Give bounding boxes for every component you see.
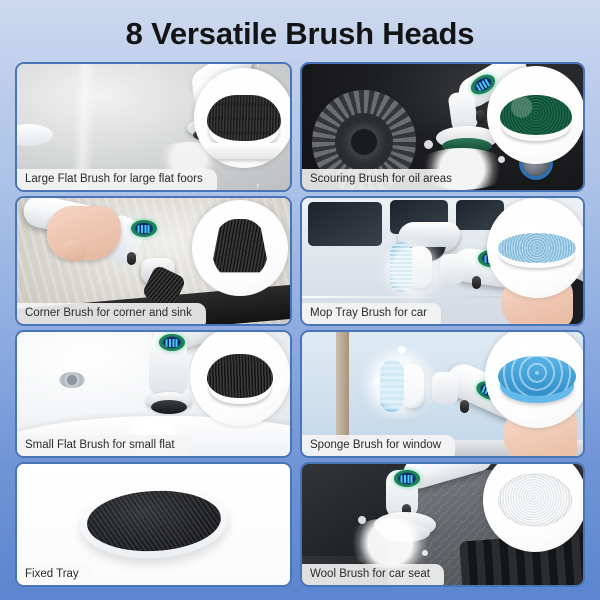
panel-label: Sponge Brush for window	[302, 435, 455, 456]
panel-label: Corner Brush for corner and sink	[17, 303, 206, 324]
page-title: 8 Versatile Brush Heads	[0, 16, 600, 52]
panel-fixed-tray[interactable]: Fixed Tray	[15, 462, 292, 587]
panel-label: Wool Brush for car seat	[302, 564, 444, 585]
led-display-icon	[394, 470, 420, 487]
led-display-icon	[159, 334, 185, 351]
panel-label: Scouring Brush for oil areas	[302, 169, 466, 190]
panel-large-flat-brush[interactable]: Large Flat Brush for large flat foors	[15, 62, 292, 192]
fixed-tray-icon	[78, 482, 230, 562]
panel-label: Small Flat Brush for small flat	[17, 435, 189, 456]
panel-mop-tray-brush[interactable]: Mop Tray Brush for car	[300, 196, 585, 326]
inset-brush-head	[192, 200, 288, 296]
panel-wool-brush[interactable]: Wool Brush for car seat	[300, 462, 585, 587]
panel-sponge-brush[interactable]: Sponge Brush for window	[300, 330, 585, 458]
brush-head-mop-pad-icon	[498, 233, 576, 263]
panel-small-flat-brush[interactable]: Small Flat Brush for small flat	[15, 330, 292, 458]
brush-head-round-bristle-icon	[207, 354, 273, 398]
led-display-icon	[131, 220, 157, 237]
infographic-root: 8 Versatile Brush Heads Large Flat Brush	[0, 0, 600, 600]
brush-head-scouring-pad-icon	[500, 95, 572, 135]
sink-drain	[59, 372, 85, 388]
brush-head-cone-bristle-icon	[212, 219, 268, 277]
brush-head-grid: Large Flat Brush for large flat foors	[15, 62, 585, 587]
inset-brush-head	[485, 330, 585, 428]
panel-label: Mop Tray Brush for car	[302, 303, 441, 324]
panel-label: Fixed Tray	[17, 564, 93, 585]
inset-brush-head	[487, 66, 585, 164]
brush-head-wool-pad-icon	[498, 473, 572, 527]
brush-head-sponge-icon	[498, 356, 576, 396]
panel-scouring-brush[interactable]: Scouring Brush for oil areas	[300, 62, 585, 192]
brush-head-bristle-flat-icon	[207, 95, 281, 141]
panel-label: Large Flat Brush for large flat foors	[17, 169, 217, 190]
panel-corner-brush[interactable]: Corner Brush for corner and sink	[15, 196, 292, 326]
inset-brush-head	[190, 330, 290, 426]
inset-brush-head	[487, 198, 585, 298]
inset-brush-head	[194, 68, 292, 168]
thumb	[61, 240, 87, 262]
